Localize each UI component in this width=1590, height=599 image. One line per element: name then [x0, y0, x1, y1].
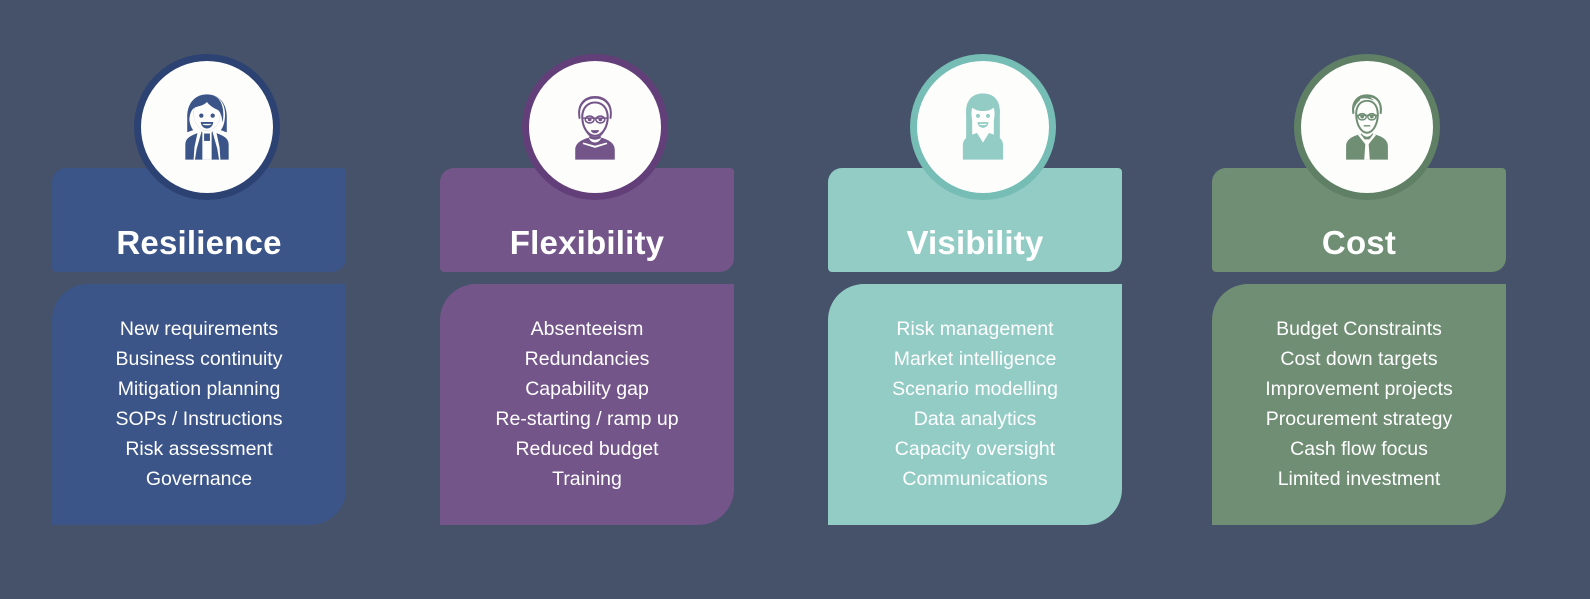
- item-list: Absenteeism Redundancies Capability gap …: [440, 314, 734, 494]
- avatar-disc: [141, 61, 273, 193]
- list-item: Limited investment: [1212, 464, 1506, 494]
- avatar: [1294, 54, 1440, 200]
- list-item: Training: [440, 464, 734, 494]
- avatar-disc: [1301, 61, 1433, 193]
- list-item: Procurement strategy: [1212, 404, 1506, 434]
- list-item: Market intelligence: [828, 344, 1122, 374]
- item-list: New requirements Business continuity Mit…: [52, 314, 346, 494]
- avatar-disc: [917, 61, 1049, 193]
- list-item: Redundancies: [440, 344, 734, 374]
- items-card-resilience: New requirements Business continuity Mit…: [52, 284, 346, 525]
- avatar: [522, 54, 668, 200]
- list-item: Re-starting / ramp up: [440, 404, 734, 434]
- list-item: Communications: [828, 464, 1122, 494]
- category-title: Flexibility: [440, 226, 734, 259]
- list-item: Mitigation planning: [52, 374, 346, 404]
- list-item: Governance: [52, 464, 346, 494]
- category-column-flexibility: Flexibility Absenteeism Redundancies Cap…: [440, 0, 750, 599]
- list-item: SOPs / Instructions: [52, 404, 346, 434]
- item-list: Risk management Market intelligence Scen…: [828, 314, 1122, 494]
- items-card-flexibility: Absenteeism Redundancies Capability gap …: [440, 284, 734, 525]
- list-item: Business continuity: [52, 344, 346, 374]
- man-glasses-shirt-tie-avatar-icon: [1324, 84, 1410, 170]
- list-item: Cost down targets: [1212, 344, 1506, 374]
- avatar: [910, 54, 1056, 200]
- list-item: New requirements: [52, 314, 346, 344]
- list-item: Budget Constraints: [1212, 314, 1506, 344]
- list-item: Absenteeism: [440, 314, 734, 344]
- avatar: [134, 54, 280, 200]
- category-title: Visibility: [828, 226, 1122, 259]
- list-item: Cash flow focus: [1212, 434, 1506, 464]
- list-item: Capacity oversight: [828, 434, 1122, 464]
- woman-bob-hair-blazer-avatar-icon: [164, 84, 250, 170]
- list-item: Scenario modelling: [828, 374, 1122, 404]
- list-item: Capability gap: [440, 374, 734, 404]
- item-list: Budget Constraints Cost down targets Imp…: [1212, 314, 1506, 494]
- category-column-resilience: Resilience New requirements Business con…: [52, 0, 362, 599]
- avatar-disc: [529, 61, 661, 193]
- category-column-cost: Cost Budget Constraints Cost down target…: [1212, 0, 1522, 599]
- category-title: Resilience: [52, 226, 346, 259]
- list-item: Risk assessment: [52, 434, 346, 464]
- items-card-cost: Budget Constraints Cost down targets Imp…: [1212, 284, 1506, 525]
- list-item: Data analytics: [828, 404, 1122, 434]
- list-item: Reduced budget: [440, 434, 734, 464]
- woman-long-hair-vneck-avatar-icon: [940, 84, 1026, 170]
- category-title: Cost: [1212, 226, 1506, 259]
- items-card-visibility: Risk management Market intelligence Scen…: [828, 284, 1122, 525]
- infographic-board: Resilience New requirements Business con…: [0, 0, 1590, 599]
- list-item: Improvement projects: [1212, 374, 1506, 404]
- bald-man-glasses-beard-avatar-icon: [552, 84, 638, 170]
- category-column-visibility: Visibility Risk management Market intell…: [828, 0, 1138, 599]
- list-item: Risk management: [828, 314, 1122, 344]
